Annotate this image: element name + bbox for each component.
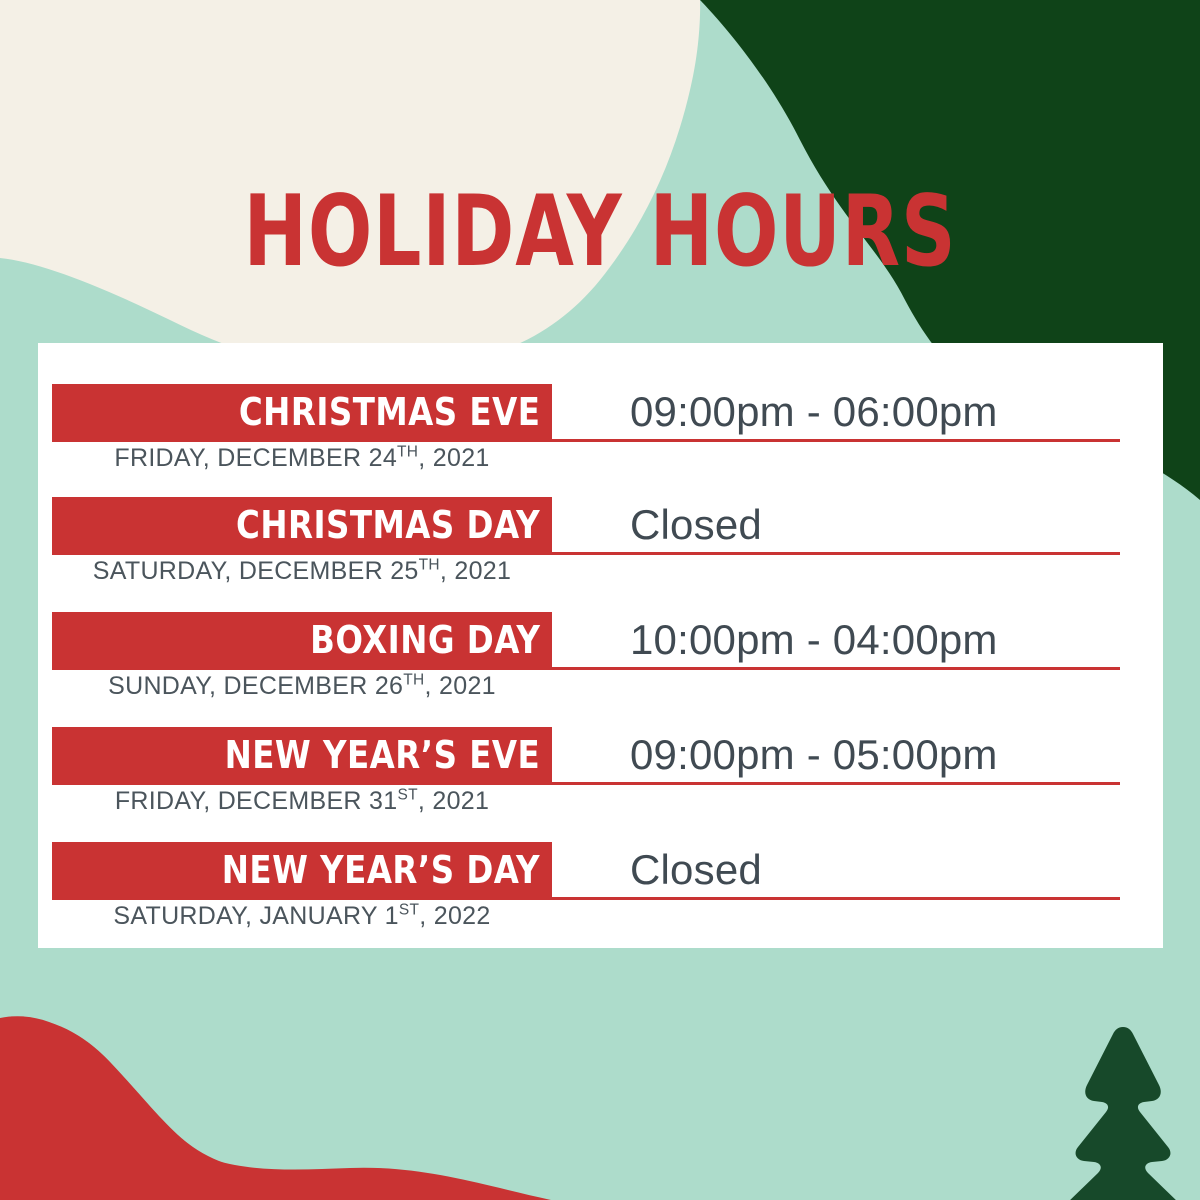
row-divider (52, 897, 1120, 900)
holiday-hours-value: 09:00pm - 06:00pm (630, 384, 998, 439)
hours-row: CHRISTMAS DAY Closed SATURDAY, DECEMBER … (38, 497, 1163, 610)
date-ordinal: ST (399, 902, 419, 919)
holiday-name: BOXING DAY (310, 618, 540, 662)
page-title: HOLIDAY HOURS (84, 183, 1116, 281)
date-prefix: SATURDAY, JANUARY 1 (113, 902, 398, 930)
hours-row: CHRISTMAS EVE 09:00pm - 06:00pm FRIDAY, … (38, 384, 1163, 497)
holiday-name: NEW YEAR’S EVE (224, 733, 540, 777)
date-suffix: , 2021 (418, 444, 489, 472)
date-suffix: , 2022 (419, 902, 490, 930)
date-ordinal: TH (403, 672, 424, 689)
holiday-hours-value: 09:00pm - 05:00pm (630, 727, 998, 782)
holiday-hours-value: 10:00pm - 04:00pm (630, 612, 998, 667)
row-divider (52, 439, 1120, 442)
date-ordinal: TH (419, 557, 440, 574)
hours-row: NEW YEAR’S EVE 09:00pm - 05:00pm FRIDAY,… (38, 727, 1163, 840)
hours-card: CHRISTMAS EVE 09:00pm - 06:00pm FRIDAY, … (38, 343, 1163, 948)
holiday-name: CHRISTMAS EVE (238, 390, 540, 434)
date-suffix: , 2021 (440, 557, 511, 585)
holiday-name: NEW YEAR’S DAY (222, 848, 540, 892)
date-ordinal: ST (397, 787, 417, 804)
row-divider (52, 667, 1120, 670)
date-prefix: SATURDAY, DECEMBER 25 (93, 557, 419, 585)
holiday-name-band: BOXING DAY (52, 612, 552, 667)
date-ordinal: TH (397, 444, 418, 461)
hours-row: BOXING DAY 10:00pm - 04:00pm SUNDAY, DEC… (38, 612, 1163, 725)
holiday-hours-value: Closed (630, 842, 762, 897)
date-suffix: , 2021 (418, 787, 489, 815)
holiday-name-band: CHRISTMAS DAY (52, 497, 552, 552)
date-prefix: SUNDAY, DECEMBER 26 (108, 672, 403, 700)
holiday-date: SUNDAY, DECEMBER 26TH, 2021 (52, 672, 552, 701)
row-divider (52, 552, 1120, 555)
hours-row: NEW YEAR’S DAY Closed SATURDAY, JANUARY … (38, 842, 1163, 955)
holiday-date: SATURDAY, DECEMBER 25TH, 2021 (52, 557, 552, 586)
holiday-hours-poster: HOLIDAY HOURS CHRISTMAS EVE 09:00pm - 06… (0, 0, 1200, 1200)
holiday-name-band: NEW YEAR’S EVE (52, 727, 552, 782)
holiday-hours-value: Closed (630, 497, 762, 552)
holiday-name-band: CHRISTMAS EVE (52, 384, 552, 439)
holiday-date: FRIDAY, DECEMBER 24TH, 2021 (52, 444, 552, 473)
date-prefix: FRIDAY, DECEMBER 31 (115, 787, 398, 815)
holiday-date: FRIDAY, DECEMBER 31ST, 2021 (52, 787, 552, 816)
holiday-date: SATURDAY, JANUARY 1ST, 2022 (52, 902, 552, 931)
holiday-name-band: NEW YEAR’S DAY (52, 842, 552, 897)
holiday-name: CHRISTMAS DAY (236, 503, 540, 547)
date-prefix: FRIDAY, DECEMBER 24 (114, 444, 397, 472)
row-divider (52, 782, 1120, 785)
date-suffix: , 2021 (425, 672, 496, 700)
